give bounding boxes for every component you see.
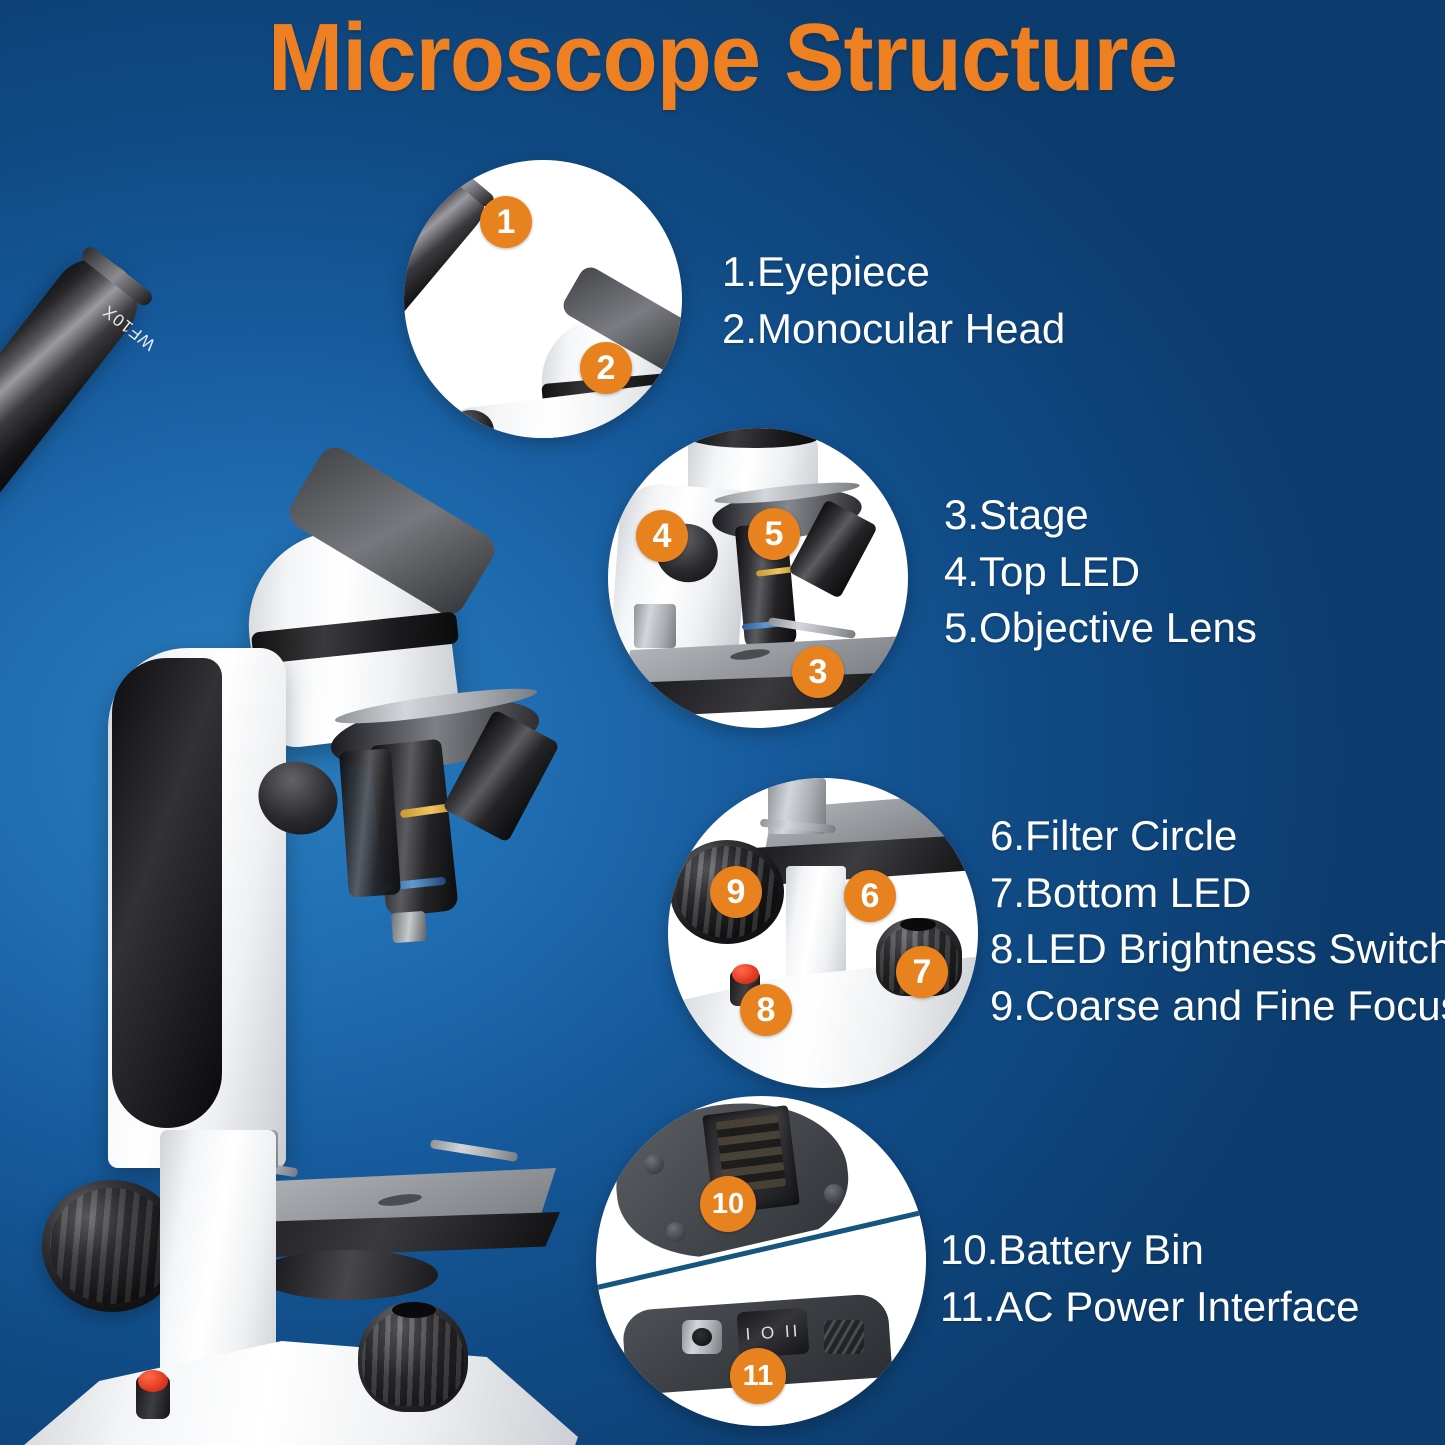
label-led-brightness-switch: 8.LED Brightness Switch	[990, 921, 1445, 978]
callout-battery-ac-power: I O II 10 11	[596, 1096, 926, 1426]
callout2-stage-clip-holder	[634, 604, 676, 648]
label-top-led: 4.Top LED	[944, 544, 1257, 601]
callout3-brightness-switch-cap[interactable]	[732, 964, 759, 984]
callout3-badge-7: 7	[896, 946, 948, 998]
callout3-bottom-led-aperture	[900, 918, 936, 931]
callout4-screw-right	[824, 1184, 844, 1204]
callout-stage-led-objective: 4 5 3	[608, 428, 908, 728]
callout3-badge-6: 6	[844, 870, 896, 922]
callout3-badge-9: 9	[710, 866, 762, 918]
objective-lens-tip	[391, 911, 427, 943]
label-group-eyepiece-head: 1.Eyepiece 2.Monocular Head	[722, 244, 1065, 357]
label-filter-circle: 6.Filter Circle	[990, 808, 1445, 865]
infographic-canvas: Microscope Structure WF10X	[0, 0, 1445, 1445]
label-eyepiece: 1.Eyepiece	[722, 244, 1065, 301]
label-bottom-led: 7.Bottom LED	[990, 865, 1445, 922]
callout4-screw-bottom-left	[666, 1222, 686, 1242]
callout4-rocker-switch-symbols: I O II	[741, 1314, 805, 1352]
page-title: Microscope Structure	[43, 8, 1401, 109]
callout4-badge-11: 11	[730, 1348, 786, 1404]
bottom-led-aperture	[392, 1302, 436, 1318]
callout2-badge-5: 5	[748, 508, 800, 560]
label-group-stage-led-objective: 3.Stage 4.Top LED 5.Objective Lens	[944, 487, 1257, 657]
stage-clip-right	[430, 1139, 518, 1162]
callout3-badge-8: 8	[740, 984, 792, 1036]
bottom-led-knob-ridges	[362, 1310, 464, 1406]
microscope-base	[8, 1325, 578, 1445]
callout3-pillar	[786, 866, 846, 986]
label-objective-lens: 5.Objective Lens	[944, 600, 1257, 657]
callout2-badge-4: 4	[636, 510, 688, 562]
label-group-filter-led-switch-focus: 6.Filter Circle 7.Bottom LED 8.LED Brigh…	[990, 808, 1445, 1035]
label-ac-power-interface: 11.AC Power Interface	[940, 1279, 1359, 1336]
objective-lens-tertiary	[339, 748, 401, 897]
label-battery-bin: 10.Battery Bin	[940, 1222, 1359, 1279]
focus-knob-ridges	[50, 1188, 174, 1304]
callout4-screw-top-left	[644, 1154, 664, 1174]
callout-filter-led-switch-focus: 9 6 7 8	[668, 778, 978, 1088]
led-brightness-switch-cap[interactable]	[138, 1370, 168, 1392]
label-monocular-head: 2.Monocular Head	[722, 301, 1065, 358]
arm-rubber-grip	[112, 658, 222, 1128]
callout4-vent-grille	[824, 1320, 864, 1354]
callout4-ac-jack-hole[interactable]	[692, 1328, 712, 1346]
callout1-badge-1: 1	[480, 196, 532, 248]
label-group-battery-ac: 10.Battery Bin 11.AC Power Interface	[940, 1222, 1359, 1335]
label-stage: 3.Stage	[944, 487, 1257, 544]
callout2-badge-3: 3	[792, 646, 844, 698]
callout1-badge-2: 2	[580, 342, 632, 394]
filter-circle	[258, 1250, 438, 1300]
callout2-head-ring	[690, 428, 818, 448]
callout4-badge-10: 10	[700, 1176, 756, 1232]
label-coarse-fine-focus: 9.Coarse and Fine Focus	[990, 978, 1445, 1035]
callout-eyepiece-monocular: 1 2	[404, 160, 682, 438]
